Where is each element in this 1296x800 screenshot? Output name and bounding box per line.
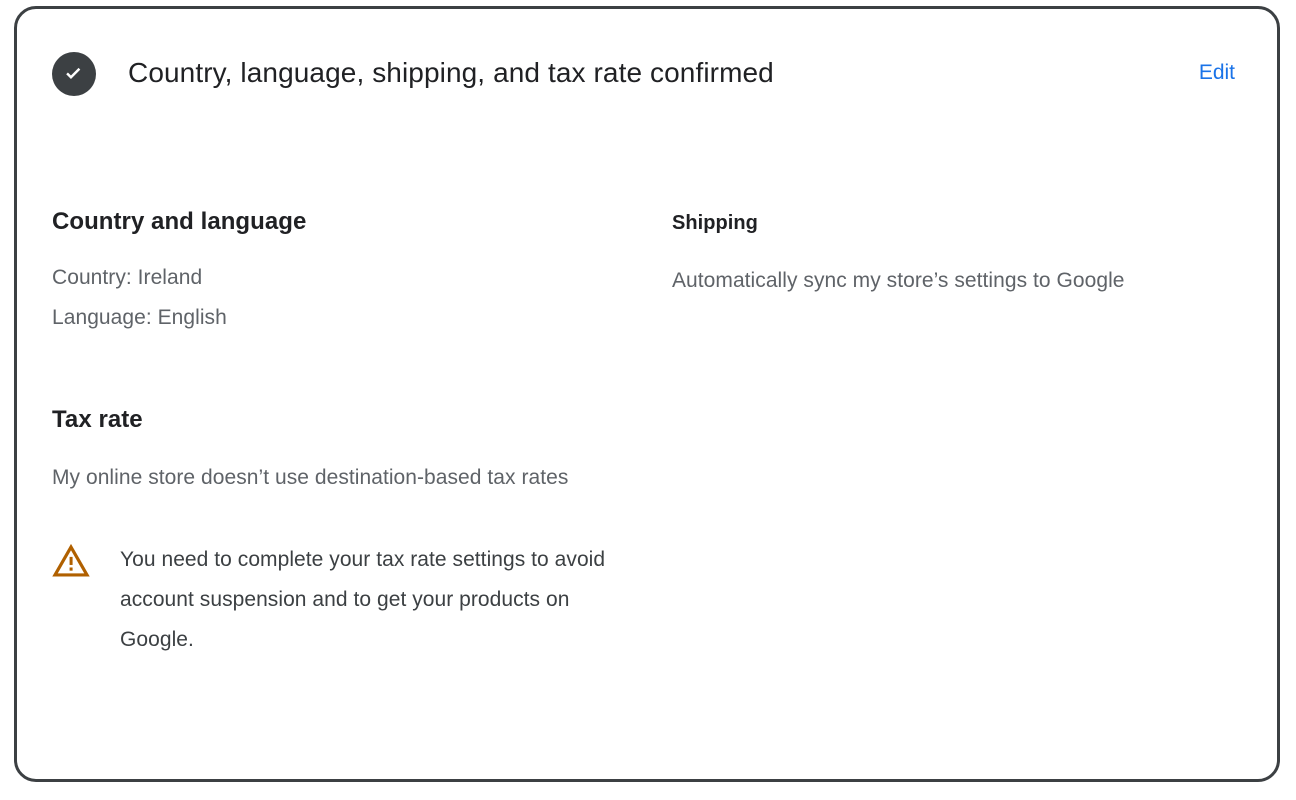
tax-rate-heading: Tax rate	[52, 338, 662, 435]
country-and-language-heading: Country and language	[52, 137, 662, 237]
tax-rate-warning: You need to complete your tax rate setti…	[52, 540, 662, 660]
page-title: Country, language, shipping, and tax rat…	[128, 56, 1197, 90]
shipping-description: Automatically sync my store’s settings t…	[672, 260, 1212, 301]
section-shipping: Shipping Automatically sync my store’s s…	[672, 137, 1243, 301]
confirmation-card: Country, language, shipping, and tax rat…	[14, 6, 1280, 782]
language-value: Language: English	[52, 298, 662, 338]
left-column: Country and language Country: Ireland La…	[52, 137, 662, 660]
shipping-heading: Shipping	[672, 137, 1243, 236]
section-tax-rate: Tax rate My online store doesn’t use des…	[52, 338, 662, 660]
edit-link[interactable]: Edit	[1197, 56, 1237, 90]
tax-rate-description: My online store doesn’t use destination-…	[52, 458, 597, 498]
tax-rate-warning-message: You need to complete your tax rate setti…	[120, 540, 610, 660]
check-circle-filled-icon	[52, 52, 96, 96]
section-country-and-language: Country and language Country: Ireland La…	[52, 137, 662, 338]
right-column: Shipping Automatically sync my store’s s…	[662, 137, 1243, 301]
card-header: Country, language, shipping, and tax rat…	[17, 9, 1277, 137]
country-value: Country: Ireland	[52, 258, 662, 298]
card-body: Country and language Country: Ireland La…	[17, 137, 1277, 779]
warning-triangle-icon	[52, 542, 90, 580]
